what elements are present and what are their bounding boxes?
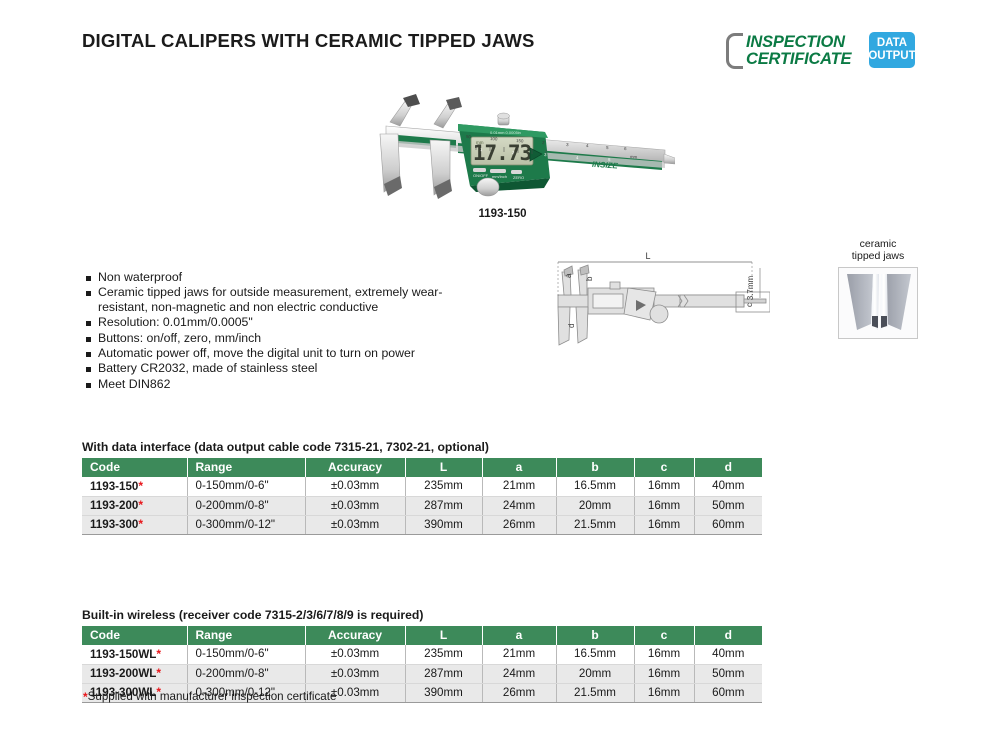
column-header-d: d [694,458,762,477]
bullet-icon [86,276,91,281]
data-output-badge: DATA OUTPUT [869,32,915,68]
column-header-b: b [556,458,634,477]
certificate-bracket-icon [726,33,743,69]
cell-code: 1193-300* [82,515,187,534]
caliper-dimension-diagram: L a b d 3.7mm c [540,248,770,353]
list-item: Meet DIN862 [86,377,466,391]
column-header-c: c [634,458,694,477]
column-header-c: c [634,626,694,645]
cell-range: 0-150mm/0-6" [187,477,305,496]
list-item: Non waterproof [86,270,466,284]
cell-d: 60mm [694,515,762,534]
cell-code: 1193-150* [82,477,187,496]
footnote: *Supplied with manufacturer inspection c… [83,690,336,704]
bullet-icon [86,383,91,388]
table-caption: With data interface (data output cable c… [82,440,762,454]
list-item: Battery CR2032, made of stainless steel [86,361,466,375]
table-data-interface-block: With data interface (data output cable c… [82,440,762,535]
asterisk-marker: * [156,666,161,680]
ceramic-jaws-inset: ceramic tipped jaws [828,238,928,339]
jaws-caption-line2: tipped jaws [852,250,905,262]
list-item: Resolution: 0.01mm/0.0005" [86,315,466,329]
column-header-code: Code [82,626,187,645]
code-text: 1193-150WL [90,648,156,661]
table-row: 1193-150* 0-150mm/0-6" ±0.03mm 235mm 21m… [82,477,762,496]
column-header-range: Range [187,626,305,645]
cell-l: 287mm [405,664,482,683]
label-thickness: 3.7mm [746,275,755,300]
cell-b: 20mm [556,496,634,515]
table-row: 1193-300* 0-300mm/0-12" ±0.03mm 390mm 26… [82,515,762,534]
cell-range: 0-150mm/0-6" [187,645,305,664]
feature-text: Non waterproof [98,270,182,284]
svg-text:150: 150 [516,138,524,144]
column-header-a: a [482,626,556,645]
feature-text: Automatic power off, move the digital un… [98,346,415,360]
cell-c: 16mm [634,515,694,534]
label-L: L [645,251,650,261]
feature-text: Buttons: on/off, zero, mm/inch [98,331,261,345]
table-row: 1193-200* 0-200mm/0-8" ±0.03mm 287mm 24m… [82,496,762,515]
feature-text: Battery CR2032, made of stainless steel [98,361,317,375]
cell-l: 235mm [405,645,482,664]
cell-a: 21mm [482,645,556,664]
cell-a: 26mm [482,515,556,534]
data-output-line1: DATA [877,37,907,50]
column-header-code: Code [82,458,187,477]
cell-l: 390mm [405,683,482,702]
jaws-photo [838,267,918,339]
column-header-accuracy: Accuracy [305,626,405,645]
list-item: Automatic power off, move the digital un… [86,346,466,360]
product-photo: 17.73 mm ON/OFF mm/inch ZERO 0.01mm 0.00… [330,88,675,203]
cell-accuracy: ±0.03mm [305,515,405,534]
list-item: Buttons: on/off, zero, mm/inch [86,331,466,345]
cell-c: 16mm [634,477,694,496]
jaws-caption-line1: ceramic [860,238,897,250]
cell-a: 24mm [482,496,556,515]
cell-l: 235mm [405,477,482,496]
jaws-caption: ceramic tipped jaws [828,238,928,262]
table-header-row: Code Range Accuracy L a b c d [82,458,762,477]
label-d: d [567,324,576,328]
list-item: Ceramic tipped jaws for outside measurem… [86,285,466,314]
cell-range: 0-200mm/0-8" [187,664,305,683]
cell-b: 21.5mm [556,515,634,534]
cell-accuracy: ±0.03mm [305,645,405,664]
datasheet-page: DIGITAL CALIPERS WITH CERAMIC TIPPED JAW… [0,0,1000,736]
cell-accuracy: ±0.03mm [305,664,405,683]
svg-text:0.01mm 0.0005in: 0.01mm 0.0005in [490,130,521,135]
cell-range: 0-200mm/0-8" [187,496,305,515]
cell-d: 40mm [694,477,762,496]
cell-accuracy: ±0.03mm [305,496,405,515]
bullet-icon [86,321,91,326]
cell-c: 16mm [634,496,694,515]
label-b: b [585,276,594,281]
certificate-label: INSPECTION CERTIFICATE [746,34,851,68]
bullet-icon [86,291,91,296]
cell-l: 287mm [405,496,482,515]
caliper-illustration: 17.73 mm ON/OFF mm/inch ZERO 0.01mm 0.00… [330,88,675,203]
table-header-row: Code Range Accuracy L a b c d [82,626,762,645]
cell-c: 16mm [634,664,694,683]
ceramic-jaws-illustration [839,268,918,339]
cell-d: 40mm [694,645,762,664]
svg-text:50: 50 [466,134,472,139]
table-caption: Built-in wireless (receiver code 7315-2/… [82,608,762,622]
code-text: 1193-300 [90,518,138,531]
certificate-line1: INSPECTION [746,34,851,51]
svg-text:mm: mm [476,140,484,145]
svg-text:mm/inch: mm/inch [492,174,507,179]
svg-text:ZERO: ZERO [513,175,524,180]
cell-b: 16.5mm [556,477,634,496]
column-header-a: a [482,458,556,477]
cell-range: 0-300mm/0-12" [187,515,305,534]
cell-l: 390mm [405,515,482,534]
code-text: 1193-150 [90,480,138,493]
label-c: c [745,303,754,307]
asterisk-marker: * [138,479,143,493]
table-row: 1193-200WL* 0-200mm/0-8" ±0.03mm 287mm 2… [82,664,762,683]
bullet-icon [86,352,91,357]
column-header-range: Range [187,458,305,477]
cell-d: 50mm [694,496,762,515]
cell-c: 16mm [634,683,694,702]
cell-b: 21.5mm [556,683,634,702]
cell-b: 16.5mm [556,645,634,664]
product-caption: 1193-150 [330,208,675,220]
cell-c: 16mm [634,645,694,664]
column-header-l: L [405,626,482,645]
footnote-text: Supplied with manufacturer inspection ce… [88,690,337,703]
code-text: 1193-200 [90,499,138,512]
asterisk-marker: * [138,498,143,512]
table-wireless-block: Built-in wireless (receiver code 7315-2/… [82,608,762,703]
cell-accuracy: ±0.03mm [305,477,405,496]
svg-text:100: 100 [490,136,498,142]
column-header-accuracy: Accuracy [305,458,405,477]
code-text: 1193-200WL [90,667,156,680]
inspection-certificate-badge: INSPECTION CERTIFICATE [726,33,851,69]
cell-code: 1193-200WL* [82,664,187,683]
cell-d: 50mm [694,664,762,683]
svg-text:INSIZE: INSIZE [592,160,619,171]
cell-d: 60mm [694,683,762,702]
cell-a: 26mm [482,683,556,702]
data-output-line2: OUTPUT [868,50,915,63]
column-header-d: d [694,626,762,645]
bullet-icon [86,367,91,372]
feature-text: Resolution: 0.01mm/0.0005" [98,315,253,329]
column-header-l: L [405,458,482,477]
bullet-icon [86,337,91,342]
cell-a: 21mm [482,477,556,496]
table-row: 1193-150WL* 0-150mm/0-6" ±0.03mm 235mm 2… [82,645,762,664]
cell-a: 24mm [482,664,556,683]
feature-list: Non waterproof Ceramic tipped jaws for o… [86,270,466,392]
dimension-drawing: L a b d 3.7mm c [540,248,770,353]
spec-table-data-interface: Code Range Accuracy L a b c d 1193-150* … [82,458,762,535]
svg-text:ON/OFF: ON/OFF [473,173,489,178]
cell-code: 1193-200* [82,496,187,515]
column-header-b: b [556,626,634,645]
feature-text: Ceramic tipped jaws for outside measurem… [98,285,466,314]
svg-text:mm: mm [630,154,638,160]
asterisk-marker: * [138,517,143,531]
cell-code: 1193-150WL* [82,645,187,664]
page-title: DIGITAL CALIPERS WITH CERAMIC TIPPED JAW… [82,30,535,52]
label-a: a [564,273,573,278]
cell-b: 20mm [556,664,634,683]
feature-text: Meet DIN862 [98,377,170,391]
certificate-line2: CERTIFICATE [746,51,851,68]
asterisk-marker: * [156,647,161,661]
